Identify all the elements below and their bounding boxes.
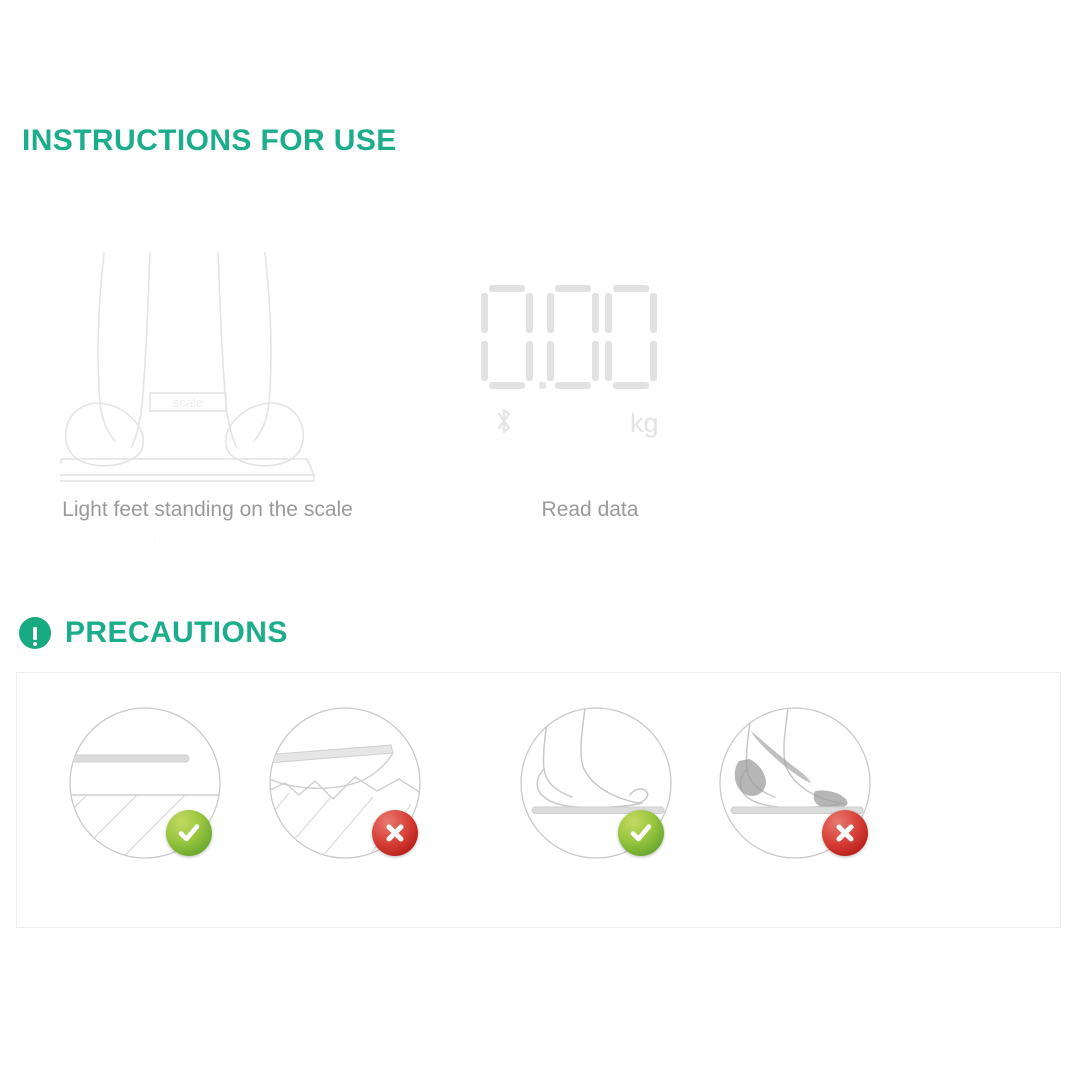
precautions-header: PRECAUTIONS xyxy=(19,616,288,650)
lcd-digit-2 xyxy=(546,285,600,389)
bluetooth-glyph xyxy=(494,407,514,437)
sock-heel-shading xyxy=(735,759,766,796)
status-badge-not-ok xyxy=(822,810,868,856)
cross-icon xyxy=(382,820,408,846)
sock-toe-shading xyxy=(814,790,848,808)
check-icon xyxy=(176,820,202,846)
bluetooth-icon xyxy=(494,407,514,443)
check-icon xyxy=(628,820,654,846)
exclamation-circle-icon xyxy=(19,617,51,649)
lcd-digit-3 xyxy=(604,285,658,389)
cross-icon xyxy=(832,820,858,846)
precautions-title: PRECAUTIONS xyxy=(65,616,288,650)
step-read-caption: Read data xyxy=(455,498,725,522)
faint-watermark: scale xyxy=(120,527,300,555)
status-badge-not-ok xyxy=(372,810,418,856)
lcd-display: kg xyxy=(480,285,680,410)
lcd-digit-1 xyxy=(480,285,534,389)
step-feet-caption: Light feet standing on the scale xyxy=(0,498,415,522)
lcd-decimal-point xyxy=(539,382,546,389)
legs-standing-on-scale-icon: scale xyxy=(60,235,360,485)
status-badge-ok xyxy=(166,810,212,856)
scale-brand-text: scale xyxy=(173,395,203,410)
page-title: INSTRUCTIONS FOR USE xyxy=(22,124,397,158)
step-feet-illustration: scale xyxy=(60,235,360,485)
status-badge-ok xyxy=(618,810,664,856)
lcd-unit-label: kg xyxy=(630,410,659,437)
